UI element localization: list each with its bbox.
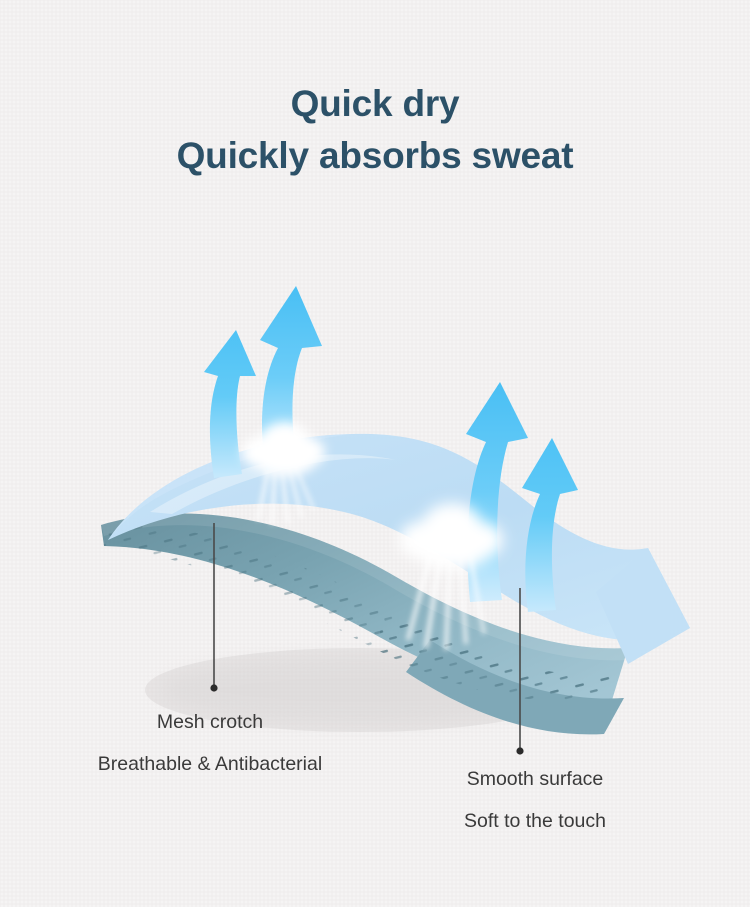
caption-left-line-2: Breathable & Antibacterial [30,755,390,775]
infographic-page: Quick dry Quickly absorbs sweat [0,0,750,907]
callout-left-dot [210,684,217,691]
callout-right-dot [516,747,523,754]
caption-smooth-surface: Smooth surface Soft to the touch [370,770,700,831]
caption-right-line-1: Smooth surface [370,770,700,790]
caption-right-line-2: Soft to the touch [370,812,700,832]
caption-left-line-1: Mesh crotch [30,713,390,733]
caption-mesh-crotch: Mesh crotch Breathable & Antibacterial [30,713,390,774]
